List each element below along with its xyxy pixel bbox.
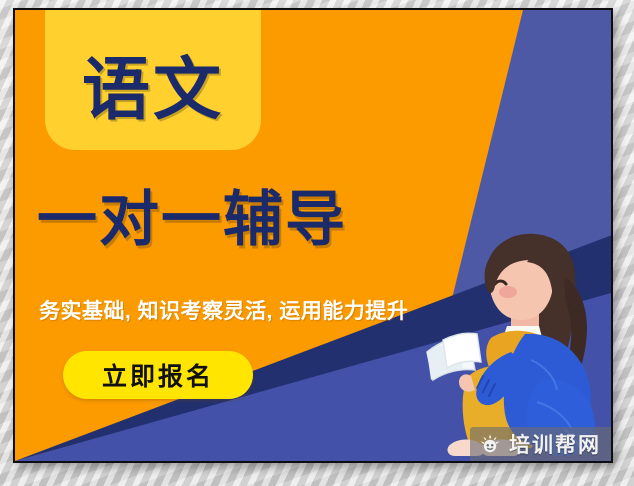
subtitle-text: 务实基础, 知识考察灵活, 运用能力提升 — [39, 295, 469, 325]
watermark: 培训帮网 — [470, 427, 611, 461]
enroll-now-button-label: 立即报名 — [102, 357, 214, 393]
subject-badge: 语文 — [45, 10, 261, 150]
cheek-blush — [499, 286, 517, 298]
subject-badge-label: 语文 — [82, 56, 224, 150]
promotional-banner[interactable]: 语文 一对一辅导 务实基础, 知识考察灵活, 运用能力提升 立即报名 — [15, 10, 611, 461]
watermark-text: 培训帮网 — [509, 429, 601, 459]
sun-smiley-icon — [478, 432, 502, 456]
banner-frame: 语文 一对一辅导 务实基础, 知识考察灵活, 运用能力提升 立即报名 — [13, 8, 613, 463]
enroll-now-button[interactable]: 立即报名 — [63, 351, 253, 399]
